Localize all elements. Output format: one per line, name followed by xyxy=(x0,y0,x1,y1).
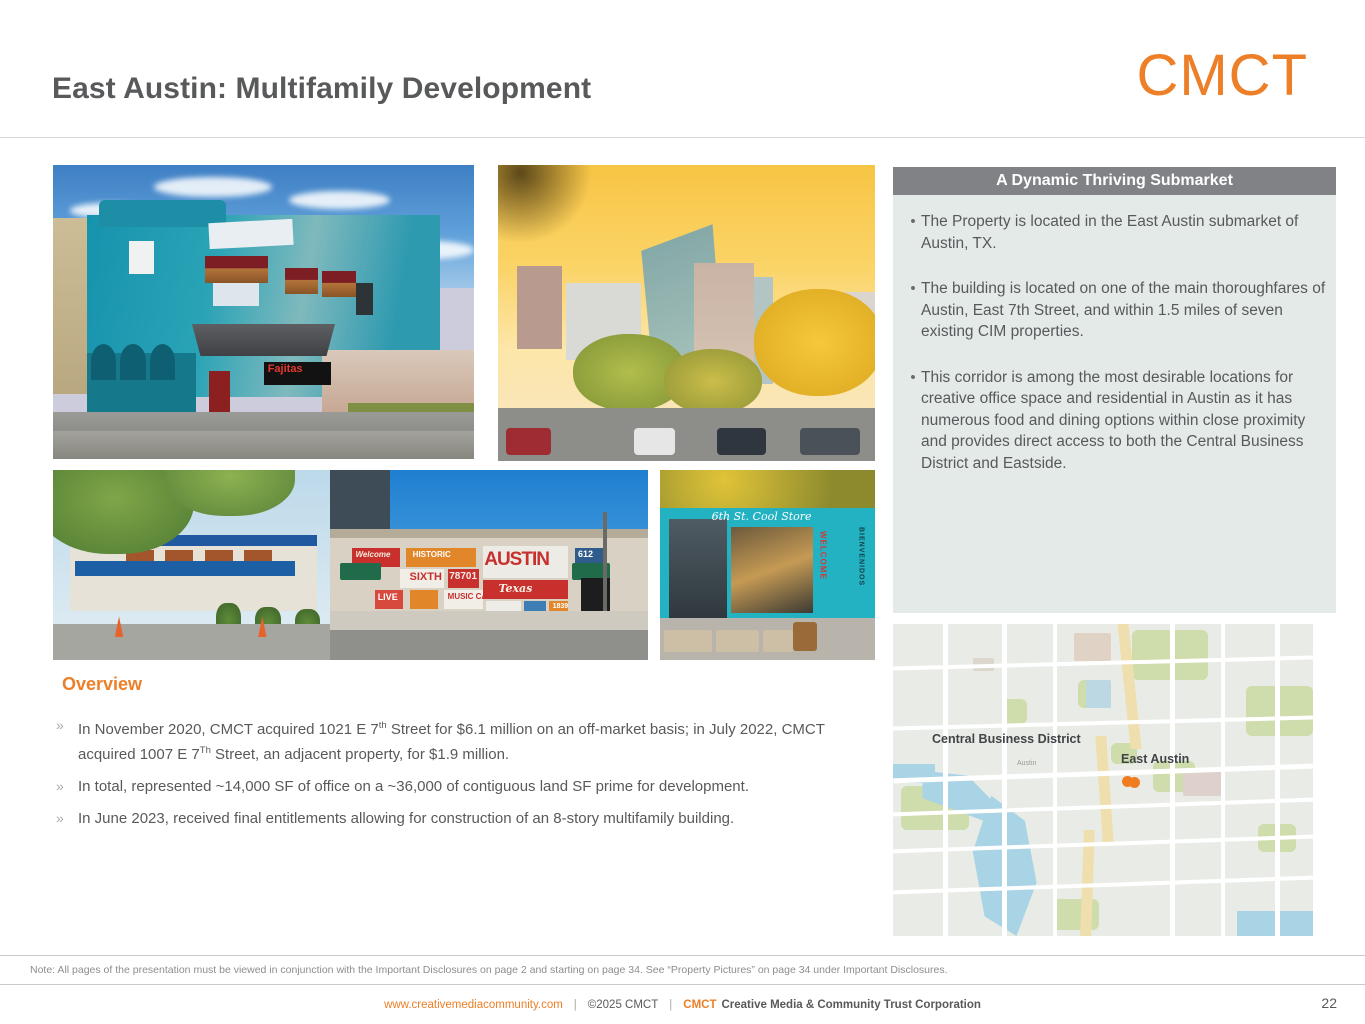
panel-bullet: • The building is located on one of the … xyxy=(905,278,1326,343)
mural-music-capital-text: MUSIC CAPITAL xyxy=(448,593,510,601)
overview-title: Overview xyxy=(62,674,142,695)
panel-body: • The Property is located in the East Au… xyxy=(893,195,1336,613)
page-title: East Austin: Multifamily Development xyxy=(52,72,591,106)
welcome-sign-text: WELCOME xyxy=(819,531,828,580)
footer-website-link[interactable]: www.creativemediacommunity.com xyxy=(384,999,563,1011)
overview-item-text: In total, represented ~14,000 SF of offi… xyxy=(78,776,872,797)
chevron-marker-icon: » xyxy=(52,808,78,829)
mural-austin-text: AUSTIN xyxy=(484,550,549,569)
footer-bar: www.creativemediacommunity.com | ©2025 C… xyxy=(0,993,1365,1017)
bullet-marker-icon: • xyxy=(905,367,921,475)
overview-item: » In total, represented ~14,000 SF of of… xyxy=(52,776,872,797)
mural-historic-text: HISTORIC xyxy=(413,551,451,559)
mural-sixth-text: SIXTH xyxy=(410,572,442,583)
footer-separator: | xyxy=(574,999,577,1011)
panel-bullet-text: This corridor is among the most desirabl… xyxy=(921,367,1326,475)
footer-separator: | xyxy=(669,999,672,1011)
mural-welcome-text: Welcome xyxy=(355,551,390,559)
patio-restaurant-photo xyxy=(53,470,334,660)
map-label-austin: Austin xyxy=(1017,760,1036,767)
cmct-logo: CMCT xyxy=(1136,47,1308,105)
mural-live-text: LIVE xyxy=(378,593,398,602)
slide-root: East Austin: Multifamily Development CMC… xyxy=(0,0,1365,1024)
footer-company-mark: CMCT xyxy=(683,999,716,1011)
page-number: 22 xyxy=(1321,995,1337,1011)
mural-year-text: 1839 xyxy=(553,603,569,610)
mural-zip-text: 78701 xyxy=(449,572,477,582)
overview-list: » In November 2020, CMCT acquired 1021 E… xyxy=(52,715,872,840)
panel-heading: A Dynamic Thriving Submarket xyxy=(893,167,1336,195)
panel-bullet: • The Property is located in the East Au… xyxy=(905,211,1326,254)
blue-corner-building-photo: Fajitas xyxy=(53,165,474,459)
map-pin-property-2[interactable] xyxy=(1129,777,1140,788)
bienvenidos-sign-text: BIENVENIDOS xyxy=(857,527,864,586)
disclosure-note-box: Note: All pages of the presentation must… xyxy=(0,955,1365,985)
mural-number-text: 612 xyxy=(578,550,593,559)
chevron-marker-icon: » xyxy=(52,715,78,765)
footer-company-name: Creative Media & Community Trust Corpora… xyxy=(721,999,980,1011)
disclosure-note-text: Note: All pages of the presentation must… xyxy=(30,964,948,976)
overview-item: » In June 2023, received final entitleme… xyxy=(52,808,872,829)
location-map[interactable]: Central Business District East Austin Au… xyxy=(893,624,1313,936)
bullet-marker-icon: • xyxy=(905,211,921,254)
panel-bullet-text: The Property is located in the East Aust… xyxy=(921,211,1326,254)
cool-store-photo: 6th St. Cool Store WELCOME BIENVENIDOS xyxy=(660,470,875,660)
footer-copyright: ©2025 CMCT xyxy=(588,999,658,1011)
cool-store-sign-text: 6th St. Cool Store xyxy=(712,510,812,523)
map-label-east-austin: East Austin xyxy=(1121,752,1189,766)
overview-item: » In November 2020, CMCT acquired 1021 E… xyxy=(52,715,872,765)
fajitas-sign-text: Fajitas xyxy=(268,363,303,375)
header-divider xyxy=(0,137,1365,138)
panel-bullet-text: The building is located on one of the ma… xyxy=(921,278,1326,343)
panel-bullet: • This corridor is among the most desira… xyxy=(905,367,1326,475)
overview-item-text: In November 2020, CMCT acquired 1021 E 7… xyxy=(78,715,872,765)
historic-sixth-mural-photo: AUSTIN SIXTH 78701 HISTORIC Welcome Texa… xyxy=(330,470,648,660)
overview-item-text: In June 2023, received final entitlement… xyxy=(78,808,872,829)
chevron-marker-icon: » xyxy=(52,776,78,797)
map-label-central-business-district: Central Business District xyxy=(932,732,1081,746)
bullet-marker-icon: • xyxy=(905,278,921,343)
austin-skyline-photo xyxy=(498,165,875,461)
